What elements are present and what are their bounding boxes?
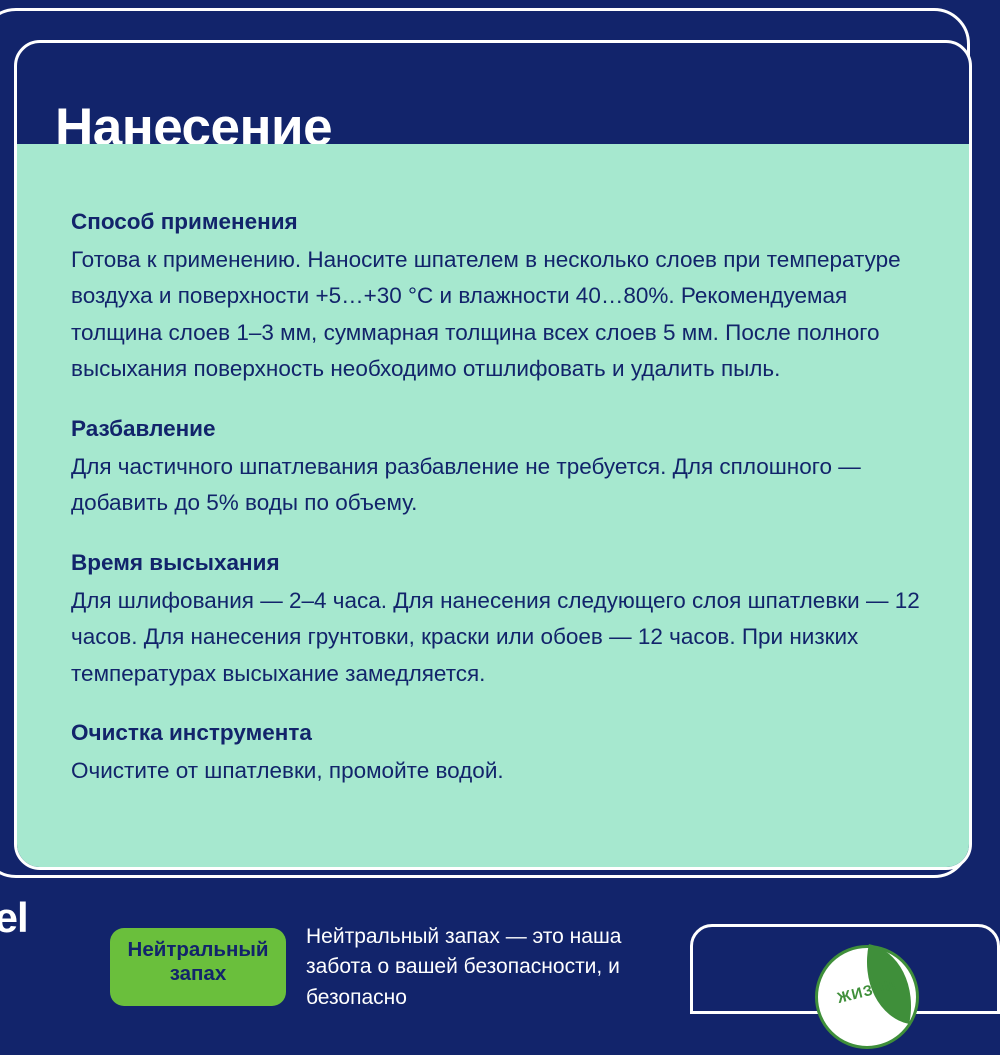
badge-line-1: Нейтральный — [110, 938, 286, 962]
section-heading: Разбавление — [71, 415, 926, 442]
eco-leaf-icon: ЖИЗНИ — [815, 945, 925, 1055]
badge-line-2: запах — [110, 962, 286, 986]
section-body: Для частичного шпатлевания разбавление н… — [71, 449, 926, 522]
section-body: Очистите от шпатлевки, промойте водой. — [71, 753, 926, 789]
product-label: Нанесение Способ применения Готова к при… — [0, 0, 1000, 1000]
brand-wordmark: bel — [0, 894, 28, 942]
section-drying-time: Время высыхания Для шлифования — 2–4 час… — [71, 549, 926, 692]
section-body: Для шлифования — 2–4 часа. Для нанесения… — [71, 583, 926, 692]
section-usage: Способ применения Готова к применению. Н… — [71, 208, 926, 388]
footer-strip: bel Нейтральный запах Нейтральный запах … — [0, 880, 1000, 1000]
section-tool-cleaning: Очистка инструмента Очистите от шпатлевк… — [71, 719, 926, 789]
eco-seal-box: ЖИЗНИ — [690, 924, 1000, 1014]
application-card: Нанесение Способ применения Готова к при… — [14, 40, 972, 870]
section-heading: Очистка инструмента — [71, 719, 926, 746]
instructions-content: Способ применения Готова к применению. Н… — [71, 208, 926, 789]
instructions-panel: Способ применения Готова к применению. Н… — [17, 144, 969, 870]
section-dilution: Разбавление Для частичного шпатлевания р… — [71, 415, 926, 522]
section-heading: Способ применения — [71, 208, 926, 235]
neutral-odor-badge: Нейтральный запах — [110, 928, 286, 1006]
section-body: Готова к применению. Наносите шпателем в… — [71, 242, 926, 388]
section-heading: Время высыхания — [71, 549, 926, 576]
